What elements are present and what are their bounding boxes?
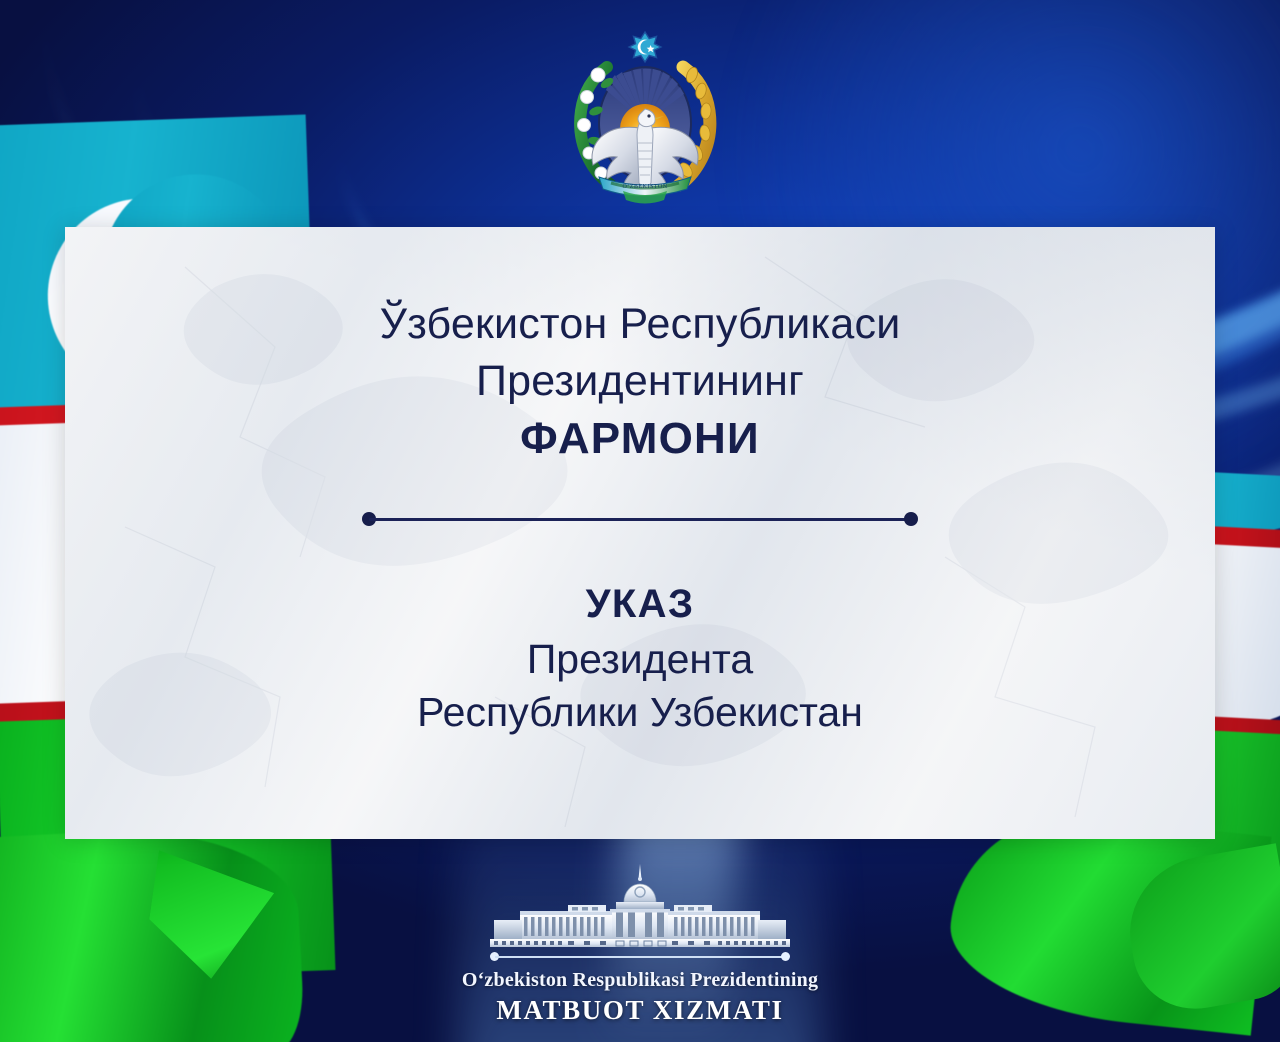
- logo-divider-bar: [495, 956, 785, 958]
- press-service-title: MATBUOT XIZMATI: [496, 995, 783, 1026]
- press-service-logo: O‘zbekiston Respublikasi Prezidentining …: [0, 862, 1280, 1026]
- presidential-palace-icon: [464, 862, 816, 950]
- coat-of-arms-icon: O‘ZBEKISTON: [563, 25, 727, 205]
- divider-dot-right: [904, 512, 918, 526]
- press-service-subtitle: O‘zbekiston Respublikasi Prezidentining: [462, 969, 818, 992]
- title-uz-decree-word: ФАРМОНИ: [520, 414, 760, 464]
- title-ru-line-2: Президента: [527, 635, 753, 683]
- title-uz-line-1: Ўзбекистон Республикаси: [380, 299, 901, 350]
- decree-card-content: Ўзбекистон Республикаси Президентининг Ф…: [65, 227, 1215, 839]
- poster-canvas: O‘ZBEKISTON: [0, 0, 1280, 1042]
- title-ru-line-3: Республики Узбекистан: [417, 688, 863, 736]
- decree-card: Ўзбекистон Республикаси Президентининг Ф…: [65, 227, 1215, 839]
- logo-divider: [490, 952, 790, 961]
- title-uz-line-2: Президентининг: [476, 356, 804, 407]
- svg-text:O‘ZBEKISTON: O‘ZBEKISTON: [622, 183, 667, 190]
- divider-bar: [369, 518, 911, 521]
- section-divider: [362, 512, 918, 526]
- logo-divider-dot-right: [781, 952, 790, 961]
- title-ru-decree-word: УКАЗ: [586, 582, 695, 627]
